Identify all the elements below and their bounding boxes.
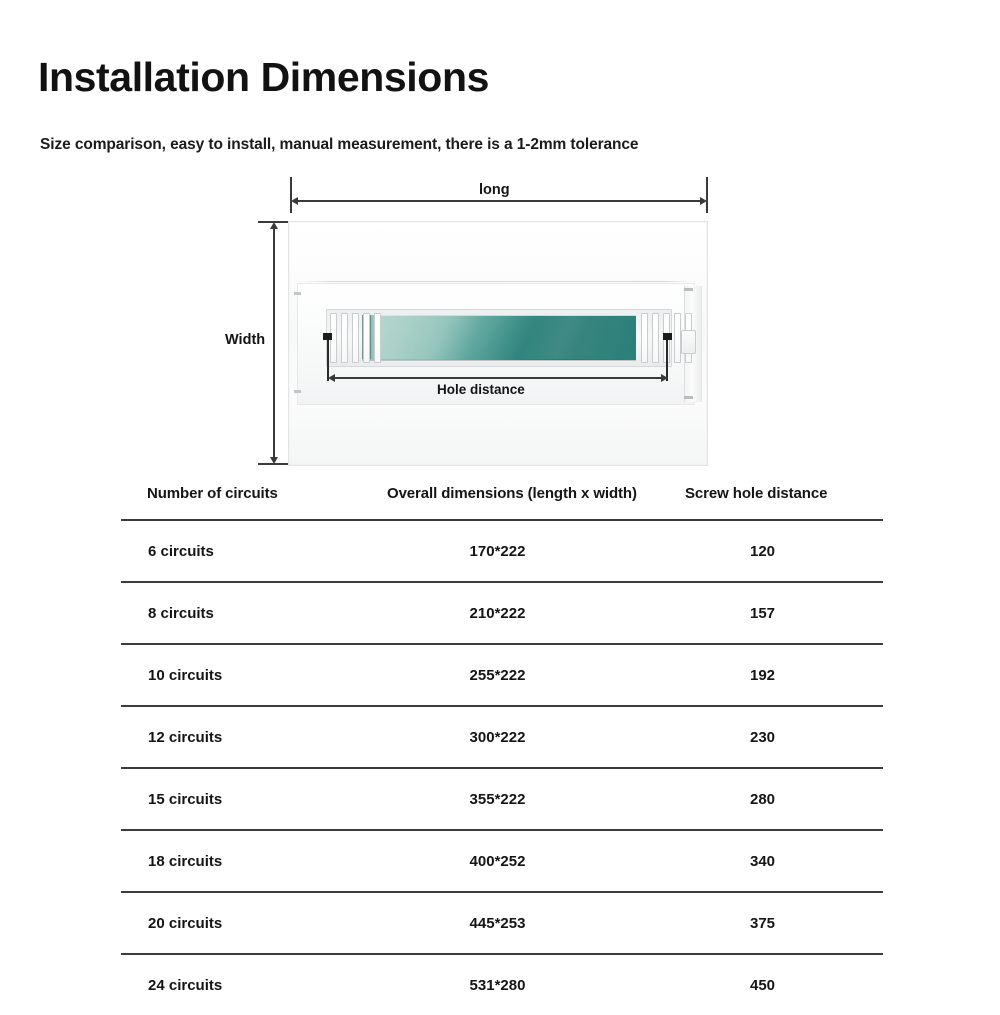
long-arrow-right [700,197,707,205]
teal-glass-window [362,315,636,361]
enclosure-seam-top [300,281,694,282]
grille-slot [374,313,381,363]
hole-arrow-right [661,374,668,382]
table-row: 24 circuits531*280450 [121,954,883,1015]
cell-dimensions: 300*222 [353,706,683,768]
screw-hole-left [323,333,332,340]
breaker-grille-left [330,313,381,361]
hinge-mark-left-top [294,292,301,295]
cell-screw-hole: 375 [683,892,883,954]
grille-slot [652,313,659,363]
table-row: 10 circuits255*222192 [121,644,883,706]
cell-dimensions: 170*222 [353,520,683,582]
cell-dimensions: 400*252 [353,830,683,892]
cell-screw-hole: 340 [683,830,883,892]
grille-slot [341,313,348,363]
door-latch [681,330,696,354]
cell-dimensions: 210*222 [353,582,683,644]
long-tick-right [706,177,708,213]
specifications-table: Number of circuits Overall dimensions (l… [121,485,883,1015]
long-arrow-left [291,197,298,205]
cell-dimensions: 531*280 [353,954,683,1015]
grille-slot [674,313,681,363]
cell-circuits: 24 circuits [121,954,353,1015]
cell-dimensions: 255*222 [353,644,683,706]
width-label: Width [225,332,265,348]
cell-circuits: 8 circuits [121,582,353,644]
table-row: 20 circuits445*253375 [121,892,883,954]
cell-screw-hole: 280 [683,768,883,830]
long-dimension-line [296,200,700,202]
grille-slot [352,313,359,363]
cell-screw-hole: 157 [683,582,883,644]
cell-dimensions: 355*222 [353,768,683,830]
screw-hole-right [663,333,672,340]
column-header-circuits: Number of circuits [121,485,353,520]
column-header-screw-hole: Screw hole distance [683,485,883,520]
hinge-mark-left-bottom [294,390,301,393]
cell-screw-hole: 120 [683,520,883,582]
grille-slot [641,313,648,363]
hole-arrow-left [328,374,335,382]
long-label: long [479,182,510,198]
long-tick-left [290,177,292,213]
cell-screw-hole: 450 [683,954,883,1015]
table-row: 18 circuits400*252340 [121,830,883,892]
installation-diagram: long Width Hole distance [0,0,1000,480]
cell-circuits: 6 circuits [121,520,353,582]
hole-distance-label: Hole distance [437,382,525,397]
column-header-dimensions: Overall dimensions (length x width) [353,485,683,520]
table-header-row: Number of circuits Overall dimensions (l… [121,485,883,520]
table-row: 8 circuits210*222157 [121,582,883,644]
table-row: 12 circuits300*222230 [121,706,883,768]
table-row: 15 circuits355*222280 [121,768,883,830]
table-row: 6 circuits170*222120 [121,520,883,582]
width-arrow-top [270,222,278,229]
cell-screw-hole: 230 [683,706,883,768]
hole-distance-line [333,377,661,379]
cell-screw-hole: 192 [683,644,883,706]
cell-circuits: 10 circuits [121,644,353,706]
cell-circuits: 20 circuits [121,892,353,954]
cell-dimensions: 445*253 [353,892,683,954]
width-dimension-line [273,227,275,458]
grille-slot [363,313,370,363]
cell-circuits: 12 circuits [121,706,353,768]
cell-circuits: 18 circuits [121,830,353,892]
hinge-mark-bottom [684,396,693,399]
cell-circuits: 15 circuits [121,768,353,830]
width-arrow-bottom [270,457,278,464]
hinge-mark-top [684,288,693,291]
